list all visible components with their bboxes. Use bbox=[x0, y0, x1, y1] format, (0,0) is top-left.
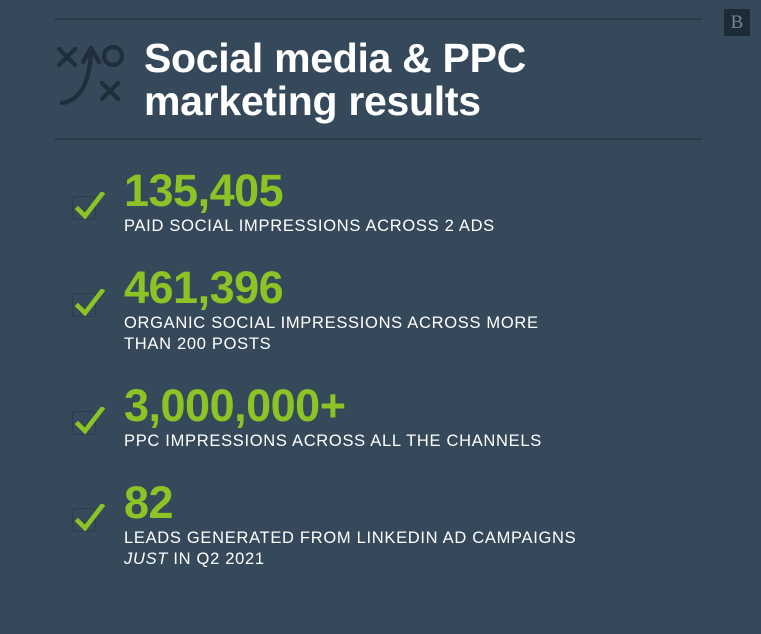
list-item: 461,396 ORGANIC SOCIAL IMPRESSIONS ACROS… bbox=[54, 265, 714, 356]
stat-text: 3,000,000+ PPC IMPRESSIONS ACROSS ALL TH… bbox=[124, 383, 542, 453]
checkbox-checked-icon bbox=[72, 504, 106, 538]
title-block: Social media & PPC marketing results bbox=[144, 35, 526, 124]
stat-value: 461,396 bbox=[124, 265, 539, 311]
stat-text: 82 LEADS GENERATED FROM LINKEDIN AD CAMP… bbox=[124, 480, 576, 571]
header-body: Social media & PPC marketing results bbox=[54, 20, 702, 138]
check-mark-glyph bbox=[73, 289, 105, 321]
stat-text: 135,405 PAID SOCIAL IMPRESSIONS ACROSS 2… bbox=[124, 168, 495, 238]
stat-label-emphasis: JUST bbox=[124, 550, 168, 568]
slide-root: B bbox=[0, 0, 761, 634]
stat-label-suffix: IN Q2 2021 bbox=[168, 550, 265, 568]
list-item: 135,405 PAID SOCIAL IMPRESSIONS ACROSS 2… bbox=[54, 168, 714, 238]
stat-value: 82 bbox=[124, 480, 576, 526]
brand-logo-letter: B bbox=[731, 13, 744, 32]
check-mark-glyph bbox=[73, 192, 105, 224]
checkbox-checked-icon bbox=[72, 289, 106, 323]
stat-label-prefix: LEADS GENERATED FROM LINKEDIN AD CAMPAIG… bbox=[124, 529, 576, 547]
page-title: Social media & PPC marketing results bbox=[144, 37, 526, 124]
check-mark-glyph bbox=[73, 407, 105, 439]
stat-value: 135,405 bbox=[124, 168, 495, 214]
stat-label: LEADS GENERATED FROM LINKEDIN AD CAMPAIG… bbox=[124, 528, 576, 572]
header-divider-bottom bbox=[54, 138, 702, 140]
check-mark-glyph bbox=[73, 504, 105, 536]
stat-label: ORGANIC SOCIAL IMPRESSIONS ACROSS MORE T… bbox=[124, 313, 539, 357]
stats-list: 135,405 PAID SOCIAL IMPRESSIONS ACROSS 2… bbox=[54, 168, 714, 571]
stat-label: PAID SOCIAL IMPRESSIONS ACROSS 2 ADS bbox=[124, 216, 495, 238]
stat-value: 3,000,000+ bbox=[124, 383, 542, 429]
brand-logo-badge: B bbox=[724, 9, 750, 36]
list-item: 3,000,000+ PPC IMPRESSIONS ACROSS ALL TH… bbox=[54, 383, 714, 453]
strategy-playbook-icon bbox=[56, 39, 132, 111]
stat-text: 461,396 ORGANIC SOCIAL IMPRESSIONS ACROS… bbox=[124, 265, 539, 356]
stat-label: PPC IMPRESSIONS ACROSS ALL THE CHANNELS bbox=[124, 431, 542, 453]
header: Social media & PPC marketing results bbox=[54, 18, 702, 140]
list-item: 82 LEADS GENERATED FROM LINKEDIN AD CAMP… bbox=[54, 480, 714, 571]
checkbox-checked-icon bbox=[72, 407, 106, 441]
checkbox-checked-icon bbox=[72, 192, 106, 226]
